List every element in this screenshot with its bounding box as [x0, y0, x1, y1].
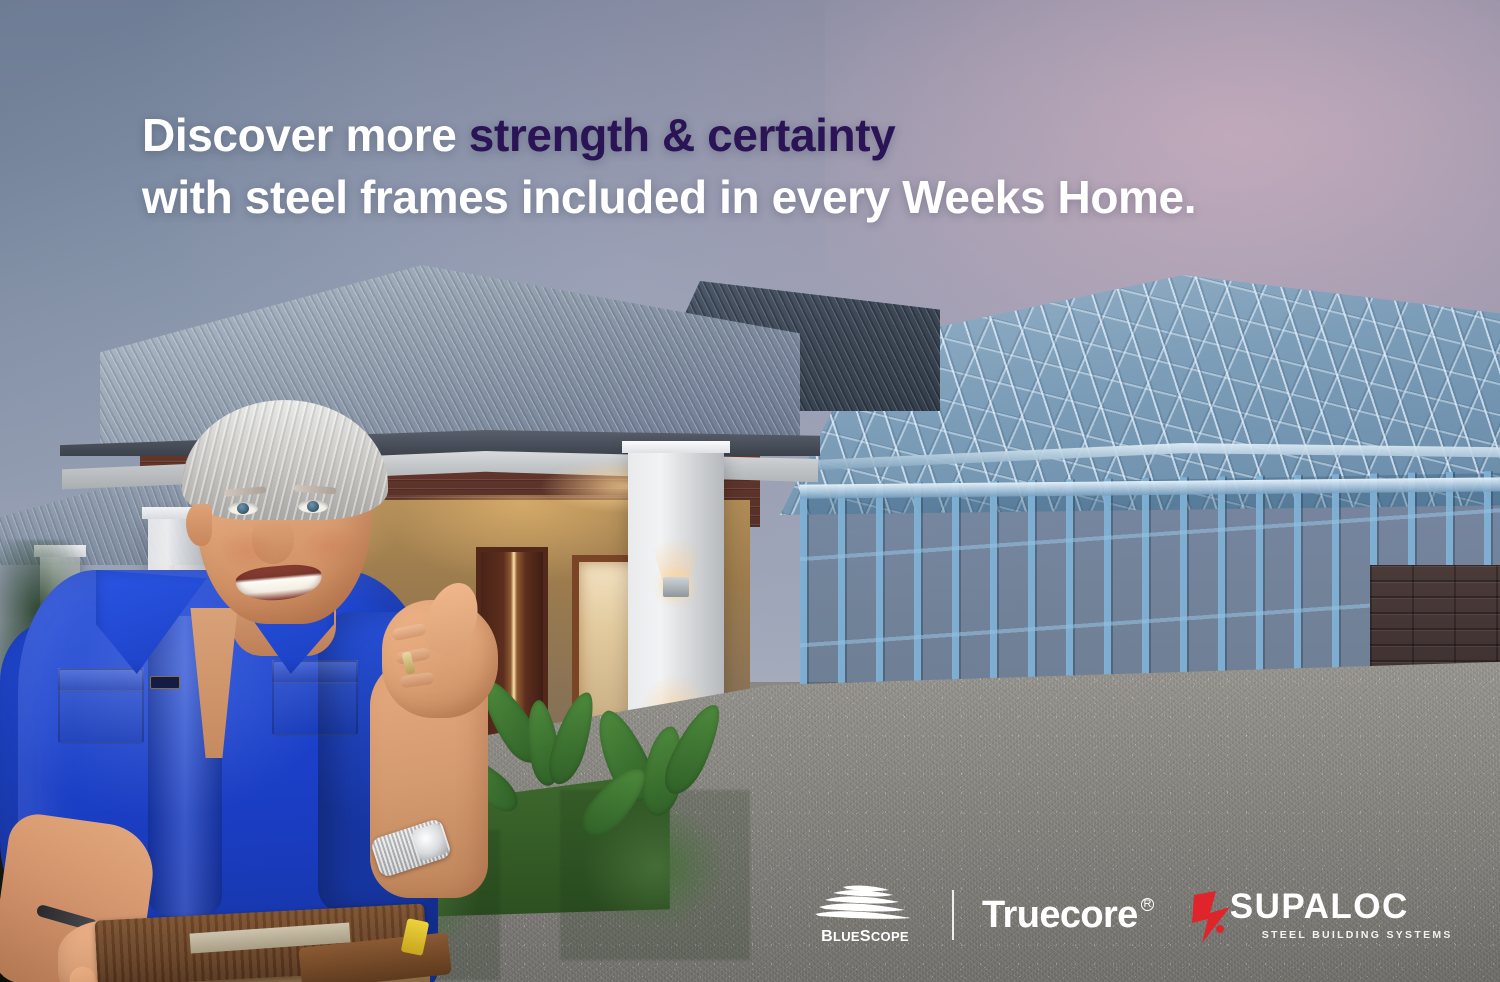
ear	[186, 504, 212, 546]
truecore-logo: Truecore R	[982, 896, 1154, 934]
partner-logo-strip: BLUESCOPE Truecore R SUPALOC STEEL BUILD…	[806, 872, 1453, 958]
pillar-wall-light-main	[663, 577, 689, 597]
headline-line2: with steel frames included in every Week…	[142, 167, 1372, 229]
bluescope-wave-mark	[813, 884, 917, 924]
shirt-pocket-flap-left	[58, 668, 144, 692]
tradesman-figure	[0, 400, 520, 982]
cheek-right	[300, 526, 360, 566]
eye-right	[298, 500, 328, 513]
supaloc-tagline: STEEL BUILDING SYSTEMS	[1204, 929, 1453, 941]
iris-right	[307, 501, 319, 512]
bluescope-word-b: B	[821, 928, 833, 945]
iris-left	[237, 503, 249, 514]
headline-line1-white: Discover more	[142, 109, 469, 161]
truecore-wordmark: Truecore	[982, 894, 1138, 936]
shirt-brand-tag	[150, 676, 180, 689]
supaloc-wordmark: SUPALOC	[1204, 889, 1409, 924]
pillar-cap-main	[622, 441, 730, 453]
advertisement-banner: Discover more strength & certainty with …	[0, 0, 1500, 982]
grey-hair	[182, 400, 388, 520]
bluescope-word-cope: COPE	[871, 929, 909, 944]
watch-face	[411, 822, 449, 862]
headline-line1-accent: strength & certainty	[469, 109, 896, 161]
shirt-pocket-left	[58, 668, 144, 744]
bluescope-logo: BLUESCOPE	[806, 884, 924, 946]
headline: Discover more strength & certainty with …	[142, 105, 1372, 228]
nose	[252, 518, 294, 564]
truecore-registered-mark: R	[1141, 898, 1154, 911]
logo-divider	[952, 890, 954, 940]
bluescope-wordmark: BLUESCOPE	[821, 928, 909, 946]
eye-left	[228, 502, 258, 515]
supaloc-logo: SUPALOC STEEL BUILDING SYSTEMS	[1204, 889, 1453, 941]
shirt-pocket-right	[272, 660, 358, 736]
bluescope-word-s: S	[860, 928, 871, 945]
bluescope-word-lue: LUE	[833, 929, 860, 944]
pillar-uplight-glow-main	[628, 461, 724, 581]
